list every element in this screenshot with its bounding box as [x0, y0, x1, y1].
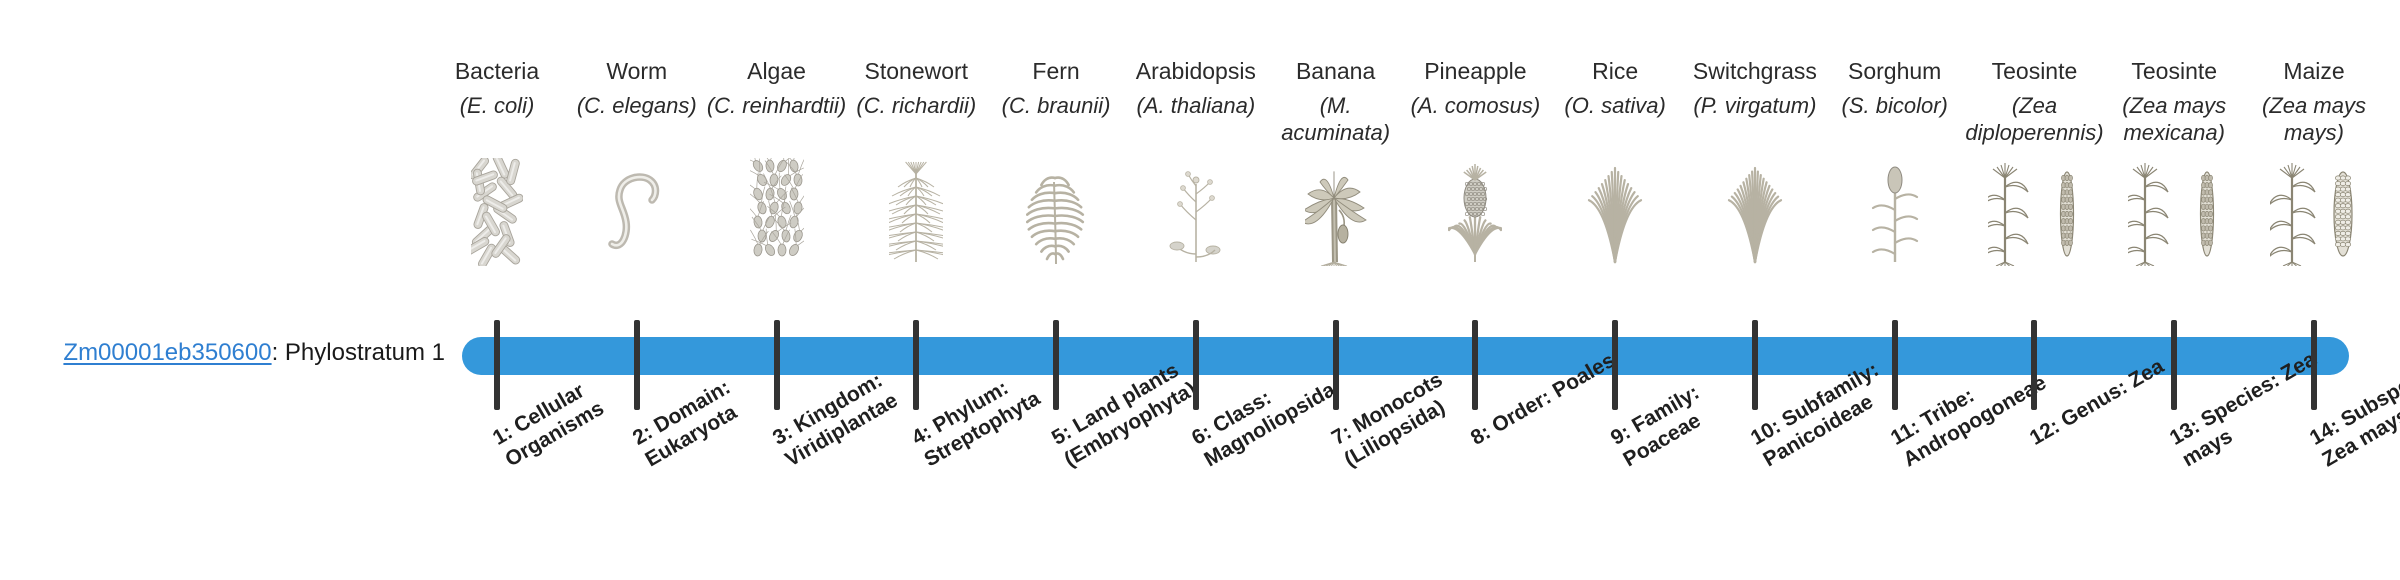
phylostratum-tick-8[interactable] — [1472, 320, 1478, 410]
species-column: Algae(C. reinhardtii)3: Kingdom: Viridip… — [709, 0, 844, 580]
phylostratum-tick-9[interactable] — [1612, 320, 1618, 410]
teosinte-plant-ear-icon — [2107, 158, 2242, 266]
species-common-name: Rice — [1548, 58, 1683, 85]
phylostratum-tick-3[interactable] — [774, 320, 780, 410]
pineapple-icon — [1408, 158, 1543, 266]
species-column: Switchgrass(P. virgatum)10: Subfamily: P… — [1687, 0, 1822, 580]
species-column: Fern(C. braunii)5: Land plants (Embryoph… — [989, 0, 1124, 580]
species-scientific-name: (M. acuminata) — [1264, 92, 1407, 146]
species-column: Sorghum(S. bicolor)11: Tribe: Andropogon… — [1827, 0, 1962, 580]
species-common-name: Maize — [2247, 58, 2382, 85]
species-scientific-name: (C. reinhardtii) — [705, 92, 848, 119]
species-column: Banana(M. acuminata)7: Monocots (Liliops… — [1268, 0, 1403, 580]
phylostratum-tick-2[interactable] — [634, 320, 640, 410]
switchgrass-icon — [1687, 158, 1822, 266]
rice-plant-icon — [1548, 158, 1683, 266]
phylostratum-tick-5[interactable] — [1053, 320, 1059, 410]
species-scientific-name: (Zea mays mexicana) — [2103, 92, 2246, 146]
fern-frond-icon — [989, 158, 1124, 266]
species-common-name: Algae — [709, 58, 844, 85]
species-scientific-name: (Zea diploperennis) — [1963, 92, 2106, 146]
species-column: Pineapple(A. comosus)8: Order: Poales — [1408, 0, 1543, 580]
species-common-name: Arabidopsis — [1128, 58, 1263, 85]
phylostratum-tick-4[interactable] — [913, 320, 919, 410]
teosinte-plant-ear-icon — [1967, 158, 2102, 266]
species-column: Rice(O. sativa)9: Family: Poaceae — [1548, 0, 1683, 580]
species-scientific-name: (E. coli) — [426, 92, 569, 119]
phylostratum-tick-12[interactable] — [2031, 320, 2037, 410]
species-common-name: Bacteria — [430, 58, 565, 85]
species-column: Teosinte(Zea diploperennis)12: Genus: Ze… — [1967, 0, 2102, 580]
species-columns: Bacteria(E. coli)1: Cellular OrganismsWo… — [462, 0, 2352, 580]
species-scientific-name: (C. richardii) — [845, 92, 988, 119]
phylostratigraphy-figure: Zm00001eb350600: Phylostratum 1 Bacteria… — [0, 0, 2400, 580]
phylostratum-tick-7[interactable] — [1333, 320, 1339, 410]
species-common-name: Worm — [569, 58, 704, 85]
species-scientific-name: (C. elegans) — [565, 92, 708, 119]
species-scientific-name: (A. comosus) — [1404, 92, 1547, 119]
nematode-worm-icon — [569, 158, 704, 266]
algae-cells-icon — [709, 158, 844, 266]
species-column: Bacteria(E. coli)1: Cellular Organisms — [430, 0, 565, 580]
bacteria-rods-icon — [430, 158, 565, 266]
arabidopsis-icon — [1128, 158, 1263, 266]
phylostratum-tick-11[interactable] — [1892, 320, 1898, 410]
species-scientific-name: (O. sativa) — [1544, 92, 1687, 119]
phylostratum-tick-13[interactable] — [2171, 320, 2177, 410]
species-column: Maize(Zea mays mays)14: Subspecies: Zea … — [2247, 0, 2382, 580]
species-scientific-name: (A. thaliana) — [1124, 92, 1267, 119]
gene-phylostratum-label: Zm00001eb350600: Phylostratum 1 — [0, 336, 455, 370]
stonewort-icon — [849, 158, 984, 266]
species-scientific-name: (Zea mays mays) — [2243, 92, 2386, 146]
species-scientific-name: (C. braunii) — [985, 92, 1128, 119]
maize-plant-ear-icon — [2247, 158, 2382, 266]
species-column: Arabidopsis(A. thaliana)6: Class: Magnol… — [1128, 0, 1263, 580]
gene-id-link[interactable]: Zm00001eb350600 — [63, 339, 271, 366]
species-common-name: Banana — [1268, 58, 1403, 85]
species-common-name: Fern — [989, 58, 1124, 85]
phylostratum-tick-1[interactable] — [494, 320, 500, 410]
species-scientific-name: (S. bicolor) — [1823, 92, 1966, 119]
species-common-name: Stonewort — [849, 58, 984, 85]
species-common-name: Pineapple — [1408, 58, 1543, 85]
phylostratum-tick-6[interactable] — [1193, 320, 1199, 410]
species-common-name: Teosinte — [1967, 58, 2102, 85]
gene-phylostratum-text: : Phylostratum 1 — [272, 339, 445, 366]
phylostratum-tick-10[interactable] — [1752, 320, 1758, 410]
phylostratum-label-14: 14: Subspecies: Zea mays mays — [2305, 344, 2400, 472]
species-column: Worm(C. elegans)2: Domain: Eukaryota — [569, 0, 704, 580]
species-common-name: Teosinte — [2107, 58, 2242, 85]
species-common-name: Switchgrass — [1687, 58, 1822, 85]
species-column: Teosinte(Zea mays mexicana)13: Species: … — [2107, 0, 2242, 580]
species-common-name: Sorghum — [1827, 58, 1962, 85]
phylostratum-tick-14[interactable] — [2311, 320, 2317, 410]
species-column: Stonewort(C. richardii)4: Phylum: Strept… — [849, 0, 984, 580]
phylostratum-value: Phylostratum 1 — [285, 339, 445, 366]
banana-plant-icon — [1268, 158, 1403, 266]
species-scientific-name: (P. virgatum) — [1683, 92, 1826, 119]
sorghum-icon — [1827, 158, 1962, 266]
